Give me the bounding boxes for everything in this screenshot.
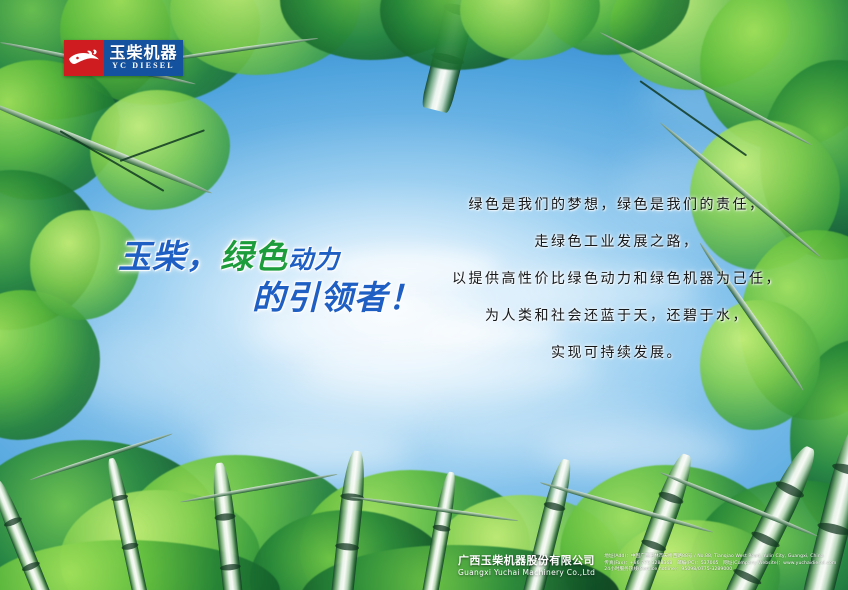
logo-english-name: YC DIESEL bbox=[112, 61, 175, 71]
footer-address-line: 地址(Add)：中国广西玉林市天桥西路88号 / No.88, Tianqiao… bbox=[604, 554, 836, 561]
slogan-line-2: 的引领者！ bbox=[118, 281, 428, 315]
mission-line: 走绿色工业发展之路， bbox=[402, 235, 832, 249]
mission-line: 实现可持续发展。 bbox=[402, 346, 832, 360]
slogan-part-power: 动力 bbox=[288, 245, 340, 274]
footer-company-info: 广西玉柴机器股份有限公司 Guangxi Yuchai Machinery Co… bbox=[458, 552, 836, 578]
slogan-part-yuchai: 玉柴， bbox=[118, 237, 220, 276]
poster-canvas: 玉柴机器 YC DIESEL 玉柴，绿色动力 的引领者！ 绿色是我们的梦想，绿色… bbox=[0, 0, 848, 590]
footer-company-names: 广西玉柴机器股份有限公司 Guangxi Yuchai Machinery Co… bbox=[458, 552, 595, 578]
footer-company-en: Guangxi Yuchai Machinery Co.,Ltd bbox=[458, 568, 595, 578]
footer-company-cn: 广西玉柴机器股份有限公司 bbox=[458, 554, 595, 567]
logo-wordmark: 玉柴机器 YC DIESEL bbox=[104, 40, 183, 76]
main-slogan: 玉柴，绿色动力 的引领者！ bbox=[118, 240, 428, 314]
slogan-line-1: 玉柴，绿色动力 bbox=[118, 240, 428, 274]
mission-line: 绿色是我们的梦想，绿色是我们的责任， bbox=[402, 198, 832, 212]
mission-statement: 绿色是我们的梦想，绿色是我们的责任， 走绿色工业发展之路， 以提供高性价比绿色动… bbox=[402, 198, 832, 360]
slogan-part-green: 绿色 bbox=[220, 237, 288, 276]
logo-chinese-name: 玉柴机器 bbox=[109, 44, 177, 61]
yuchai-emblem-icon bbox=[64, 40, 104, 76]
company-logo: 玉柴机器 YC DIESEL bbox=[64, 40, 183, 76]
mission-line: 为人类和社会还蓝于天，还碧于水， bbox=[402, 309, 832, 323]
footer-contact-block: 地址(Add)：中国广西玉林市天桥西路88号 / No.88, Tianqiao… bbox=[604, 552, 836, 574]
mission-line: 以提供高性价比绿色动力和绿色机器为己任， bbox=[402, 272, 832, 286]
footer-hotline-line: 24小时服务热线(Service hotline)：95098/0775-328… bbox=[604, 567, 836, 574]
slogan-part-leader: 的引领者！ bbox=[252, 278, 422, 317]
